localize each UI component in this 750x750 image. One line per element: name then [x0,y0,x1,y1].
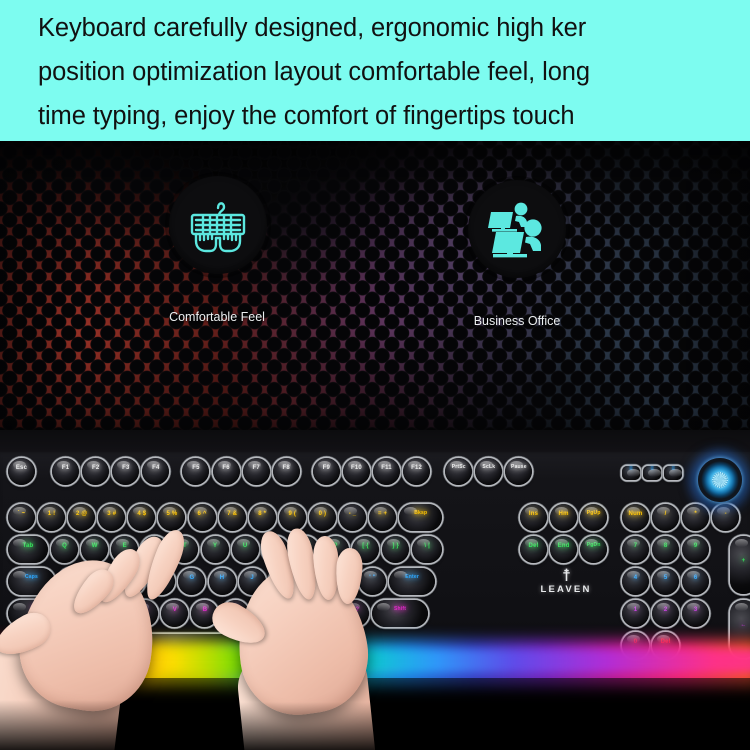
keypad-row[interactable]: 123 [622,600,712,627]
key-7[interactable]: 7 [622,536,649,563]
key-1[interactable]: 1 [622,600,649,627]
key-label: = + [378,511,387,517]
key-del[interactable]: Del [520,536,547,563]
key-f11[interactable]: F11 [373,458,400,485]
key-label: Esc [16,465,27,471]
key-label: ' " [369,575,376,581]
key-pgdn[interactable]: PgDn [580,536,607,563]
key-label: 1 ! [48,511,56,517]
key-label: Pause [511,465,527,470]
key-label: PgDn [587,543,601,548]
key-label: F12 [411,465,422,471]
key-gap [433,471,445,472]
key-label: PrtSc [452,465,466,470]
key-label: * [694,511,697,517]
key-label: 6 [694,575,698,581]
brand-wordmark: LEAVEN [528,584,604,595]
key-label: H [220,575,225,581]
key-label: F6 [222,465,229,471]
key-0[interactable]: 0 ) [309,504,336,531]
key-f9[interactable]: F9 [313,458,340,485]
key-label: End [558,543,570,549]
key-label: Ins [529,511,538,517]
key-label: 6 ^ [198,511,207,517]
key-h[interactable]: H [209,568,236,595]
key-gap [38,471,52,472]
product-promo-image: Keyboard carefully designed, ergonomic h… [0,0,750,750]
key-label: F5 [192,465,199,471]
key-label: F2 [92,465,99,471]
key-label: 4 [634,575,638,581]
key-v[interactable]: V [161,600,188,627]
key-label: Del [529,543,539,549]
keyboard-function-row[interactable]: EscF1F2F3F4F5F6F7F8F9F10F11F12PrtScScLkP… [8,458,536,485]
key-label: / [665,511,667,517]
key-label: Caps [25,575,38,580]
key-label: ≡ [650,466,654,472]
key-pgup[interactable]: PgUp [580,504,607,531]
key-label: 7 [634,543,638,549]
feature-label: Business Office [466,314,568,328]
key-gleam [13,603,26,611]
key-label: 9 [694,543,698,549]
key-label: 4 $ [137,511,146,517]
left-arm-fade [0,700,160,750]
key-label: B [203,607,208,613]
key-q[interactable]: Q [51,536,78,563]
key-6[interactable]: 6 ^ [189,504,216,531]
key-num[interactable]: Num [622,504,649,531]
key-label: F3 [122,465,129,471]
key-5[interactable]: 5 [652,568,679,595]
feature-badge-circle [169,176,267,274]
key-f5[interactable]: F5 [182,458,209,485]
business-office-people-computers-icon [483,199,551,259]
key-label: 2 [664,607,668,613]
key-label: Bksp [414,511,427,516]
key-label: Y [213,543,217,549]
keypad-row[interactable]: InsHmPgUp [520,504,610,531]
volume-knob[interactable] [698,458,742,502]
key-gleam [735,603,748,611]
feature-business-office: Business Office [466,180,568,328]
key-label: 7 & [227,511,237,517]
knob-spokes-icon [712,472,728,488]
key-label: F11 [381,465,392,471]
key-w[interactable]: W [81,536,108,563]
key-5[interactable]: 5 % [158,504,185,531]
key-2[interactable]: 2 @ [68,504,95,531]
key-f8[interactable]: F8 [273,458,300,485]
keyboard-qwerty-row[interactable]: TabQWERTYUIOP[ {] }\ | [8,536,445,563]
key-7[interactable]: 7 & [219,504,246,531]
keyboard-hands-icon [183,196,253,254]
key-label: ` ~ [18,511,26,517]
key-label: - _ [349,511,357,517]
key-f1[interactable]: F1 [52,458,79,485]
key-label: \ | [424,543,430,549]
key-label: U [243,543,248,549]
key-label: Num [629,511,643,517]
key-4[interactable]: 4 $ [128,504,155,531]
key-label: ] } [392,543,399,549]
key-f7[interactable]: F7 [243,458,270,485]
key-sym[interactable]: \ | [412,536,442,563]
key-label: Q [62,543,67,549]
key-label: Enter [405,575,419,580]
key-label: Shift [394,607,406,612]
key-label: 1 [634,607,638,613]
key-f12[interactable]: F12 [403,458,430,485]
key-label: F1 [62,465,69,471]
key-label: [ { [362,543,369,549]
key-f6[interactable]: F6 [213,458,240,485]
key-label: ≡ [671,466,675,472]
key-sym[interactable]: / [652,504,679,531]
key-4[interactable]: 4 [622,568,649,595]
key-label: + [742,558,746,564]
key-u[interactable]: U [232,536,259,563]
key-2[interactable]: 2 [652,600,679,627]
key-gleam [735,539,748,547]
key-gleam [657,507,670,515]
key-label: 0 ) [319,511,327,517]
key-label: Hm [559,511,569,517]
key-sym[interactable]: ≡ [664,466,682,480]
key-sym[interactable]: ` ~ [8,504,35,531]
key-label: 3 # [107,511,116,517]
key-label: ScLk [482,465,495,470]
feature-label: Comfortable Feel [165,310,269,324]
key-sym[interactable]: ≡ [643,466,661,480]
key-9[interactable]: 9 [682,536,709,563]
key-esc[interactable]: Esc [8,458,35,485]
key-label: PgUp [587,511,601,516]
key-6[interactable]: 6 [682,568,709,595]
panel-vignette [0,141,750,461]
key-sym[interactable]: - _ [339,504,366,531]
key-tab[interactable]: Tab [8,536,48,563]
brand-logo: ☨ LEAVEN [528,568,604,595]
key-f2[interactable]: F2 [82,458,109,485]
key-label: W [92,543,98,549]
key-label: F9 [323,465,330,471]
key-sym[interactable]: ] } [382,536,409,563]
key-shift[interactable]: Shift [372,600,428,627]
key-label: 8 [664,543,668,549]
key-sclk[interactable]: ScLk [475,458,502,485]
key-label: ← [740,622,746,628]
key-9[interactable]: 9 ( [279,504,306,531]
key-label: F7 [252,465,259,471]
key-label: J [250,575,254,581]
key-label: 8 * [258,511,266,517]
keypad-row[interactable]: DelEndPgDn [520,536,610,563]
key-3[interactable]: 3 [682,600,709,627]
key-label: 5 [664,575,668,581]
feature-badge-circle [468,180,566,278]
key-numpad-plus[interactable]: + [730,536,750,594]
key-label: F10 [351,465,362,471]
feature-comfortable-feel: Comfortable Feel [167,176,269,324]
key-hm[interactable]: Hm [550,504,577,531]
numpad-indicator-row[interactable]: ≡≡≡ [622,466,685,480]
honeycomb-background-panel [0,141,750,461]
key-gap [303,471,313,472]
key-y[interactable]: Y [202,536,229,563]
key-label: ≡ [629,466,633,472]
key-f3[interactable]: F3 [112,458,139,485]
key-label: 3 [694,607,698,613]
key-8[interactable]: 8 [652,536,679,563]
key-label: 2 @ [76,511,87,517]
key-ins[interactable]: Ins [520,504,547,531]
key-g[interactable]: G [178,568,205,595]
header-banner: Keyboard carefully designed, ergonomic h… [0,0,750,141]
key-sym[interactable]: ' " [359,568,386,595]
banner-headline: Keyboard carefully designed, ergonomic h… [38,6,722,138]
key-1[interactable]: 1 ! [38,504,65,531]
key-label: V [173,607,177,613]
key-f10[interactable]: F10 [343,458,370,485]
key-label: G [190,575,195,581]
key-pause[interactable]: Pause [505,458,532,485]
key-3[interactable]: 3 # [98,504,125,531]
key-end[interactable]: End [550,536,577,563]
key-sym[interactable]: ≡ [622,466,640,480]
key-f4[interactable]: F4 [142,458,169,485]
key-prtsc[interactable]: PrtSc [445,458,472,485]
keypad-row[interactable]: 456 [622,568,712,595]
key-8[interactable]: 8 * [249,504,276,531]
key-label: 5 % [166,511,177,517]
key-label: E [123,543,127,549]
keyboard-number-row[interactable]: ` ~1 !2 @3 #4 $5 %6 ^7 &8 *9 (0 )- _= +B… [8,504,445,531]
key-gleam [377,603,390,611]
key-sym[interactable]: = + [369,504,396,531]
right-arm-fade [230,702,410,750]
key-label: 9 ( [289,511,297,517]
key-enter[interactable]: Enter [389,568,435,595]
key-label: Tab [23,543,34,549]
keypad-row[interactable]: 789 [622,536,712,563]
key-label: F8 [283,465,290,471]
key-bksp[interactable]: Bksp [399,504,442,531]
logo-emblem-icon: ☨ [528,568,604,583]
key-label: F4 [152,465,159,471]
key-gap [172,471,182,472]
